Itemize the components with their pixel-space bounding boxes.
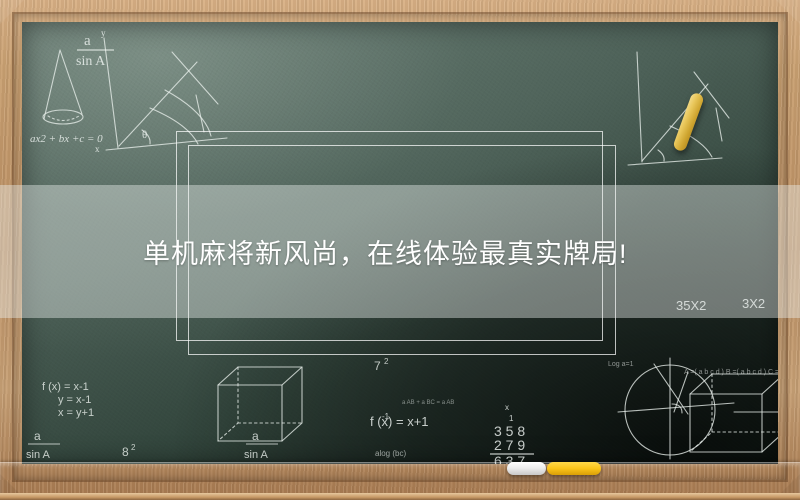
chalk-function-line-1: f (x) = x-1 (42, 381, 89, 393)
chalk-fraction-numerator-1: a (84, 33, 91, 49)
chalk-vector-note: a AB + a BC = a AB (402, 400, 454, 406)
chalk-log-expression: alog (bc) (375, 449, 406, 458)
chalk-angle-theta: θ (142, 129, 147, 141)
chalk-fraction-denominator-3: sin A (244, 449, 269, 461)
chalk-inverse-function: f (x) = x+1 (370, 414, 429, 429)
chalk-matrix-note: A =( a b c d ) B =( a b c d ) C =( a b c… (684, 369, 778, 376)
chalk-fraction-numerator-3: a (252, 429, 259, 443)
chalk-axis-x-label: x (95, 144, 100, 154)
chalk-fraction-denominator-2: sin A (26, 449, 51, 461)
white-chalk (507, 462, 546, 475)
chalk-sum-label: x (505, 403, 509, 412)
chalk-sum-addend-2: 2 7 9 (494, 437, 525, 453)
chalk-log-note: Log a=1 (608, 361, 634, 368)
chalk-axis-y-label: y (101, 28, 106, 38)
chalk-inverse-exponent: -1 (382, 412, 390, 421)
yellow-chalk (547, 462, 601, 475)
chalk-square-7: 7 (374, 359, 381, 373)
chalk-square-7-exponent: 2 (384, 357, 389, 366)
page-title: 单机麻将新风尚，在线体验最真实牌局! (143, 232, 628, 271)
chalk-ledge (0, 462, 800, 500)
chalk-quadratic-equation: ax2 + bx +c = 0 (30, 133, 103, 145)
headline-band: 单机麻将新风尚，在线体验最真实牌局! (0, 185, 800, 318)
chalk-function-line-3: x = y+1 (58, 407, 94, 419)
chalk-sum-carry: 1 (509, 414, 514, 423)
chalk-fraction-denominator-1: sin A (76, 54, 106, 69)
ledge-lip (0, 493, 800, 500)
chalk-square-8: 8 (122, 445, 129, 459)
blackboard-banner: a sin A y x θ ax2 + bx +c = 0 35X2 3X2 L… (0, 0, 800, 500)
chalk-function-line-2: y = x-1 (58, 394, 91, 406)
chalk-fraction-numerator-2: a (34, 429, 41, 443)
chalk-square-8-exponent: 2 (131, 443, 136, 452)
